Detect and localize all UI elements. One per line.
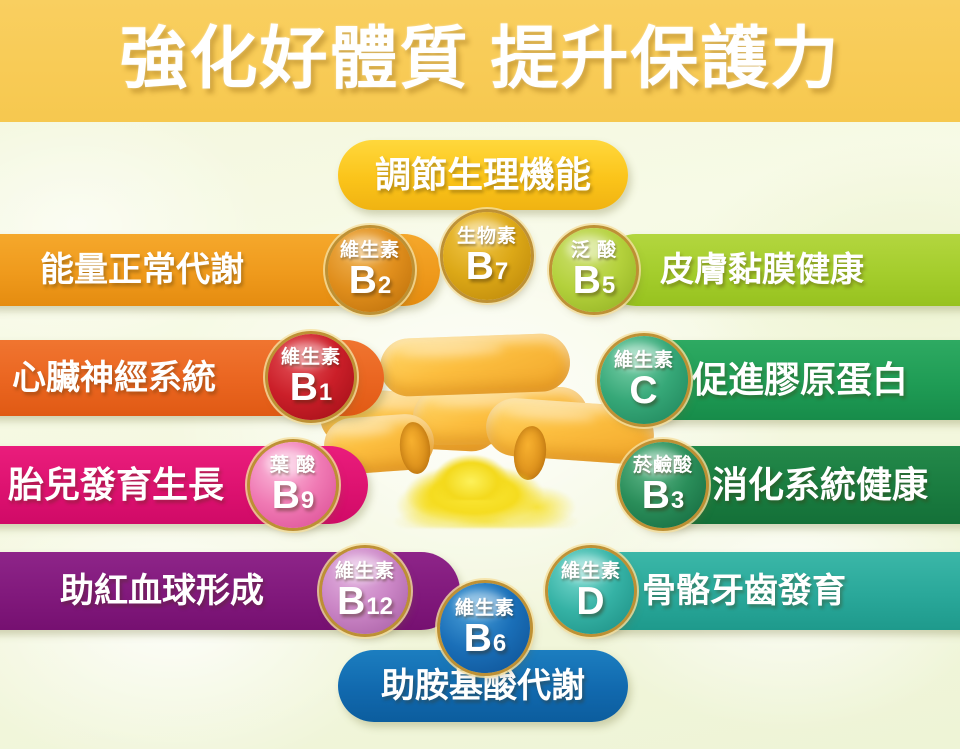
vitamin-badge-sub-b7: 生物素 (457, 227, 517, 246)
benefit-label-b7: 調節生理機能 (375, 157, 591, 193)
benefit-label-b3: 消化系統健康 (712, 467, 928, 503)
vitamin-badge-b6[interactable]: 維生素 B6 (440, 583, 530, 673)
yellow-powder-peak (423, 438, 519, 500)
vitamin-badge-main-d: D (576, 582, 605, 621)
vitamin-badge-sub-b9: 葉 酸 (270, 456, 316, 475)
vitamin-badge-sub-b1: 維生素 (281, 348, 341, 367)
vitamin-badge-b7[interactable]: 生物素 B7 (443, 212, 531, 300)
vitamin-badge-sub-b3: 菸鹼酸 (633, 456, 693, 475)
vitamin-badge-b3[interactable]: 菸鹼酸 B3 (620, 442, 706, 528)
vitamin-badge-main-b5: B5 (573, 261, 616, 300)
benefit-label-c: 促進膠原蛋白 (692, 362, 908, 398)
benefit-pill-b7[interactable]: 調節生理機能 (338, 140, 628, 210)
vitamin-badge-sub-b2: 維生素 (340, 241, 400, 260)
vitamin-badge-sub-d: 維生素 (561, 562, 621, 581)
benefit-label-b9: 胎兒發育生長 (8, 467, 224, 503)
benefit-label-d: 骨骼牙齒發育 (642, 574, 846, 608)
vitamin-badge-b1[interactable]: 維生素 B1 (268, 334, 354, 420)
vitamin-badge-main-b7: B7 (466, 247, 509, 286)
vitamin-badge-d[interactable]: 維生素 D (548, 548, 634, 634)
vitamin-badge-sub-b5: 泛 酸 (571, 241, 617, 260)
vitamin-badge-main-c: C (629, 371, 658, 410)
vitamin-badge-main-b6: B6 (464, 619, 507, 658)
vitamin-badge-b5[interactable]: 泛 酸 B5 (552, 228, 636, 312)
vitamin-badge-main-b1: B1 (290, 368, 333, 407)
vitamin-badge-main-b2: B2 (349, 261, 392, 300)
vitamin-badge-main-b3: B3 (642, 476, 685, 515)
benefit-pill-b5[interactable]: 皮膚黏膜健康 (600, 234, 960, 306)
vitamin-badge-c[interactable]: 維生素 C (600, 336, 688, 424)
vitamin-badge-b2[interactable]: 維生素 B2 (328, 228, 412, 312)
vitamin-badge-b12[interactable]: 維生素 B12 (322, 548, 408, 634)
header-banner: 強化好體質 提升保護力 (0, 0, 960, 122)
benefit-label-b5: 皮膚黏膜健康 (660, 253, 864, 287)
vitamin-badge-sub-c: 維生素 (614, 351, 674, 370)
capsule-top (379, 333, 571, 398)
vitamin-badge-main-b9: B9 (272, 476, 315, 515)
vitamin-badge-sub-b12: 維生素 (335, 562, 395, 581)
benefit-label-b2: 能量正常代謝 (40, 253, 244, 287)
vitamin-badge-b9[interactable]: 葉 酸 B9 (250, 442, 336, 528)
benefit-label-b12: 助紅血球形成 (60, 574, 264, 608)
vitamin-badge-sub-b6: 維生素 (455, 599, 515, 618)
benefit-label-b6: 助胺基酸代謝 (381, 669, 585, 703)
vitamin-badge-main-b12: B12 (337, 582, 393, 621)
page-title: 強化好體質 提升保護力 (120, 25, 841, 93)
benefit-label-b1: 心臟神經系統 (12, 361, 216, 395)
infographic-poster: 強化好體質 提升保護力 調節生理機能 生物素 B7 能量正常代謝 維生素 B2 … (0, 0, 960, 749)
